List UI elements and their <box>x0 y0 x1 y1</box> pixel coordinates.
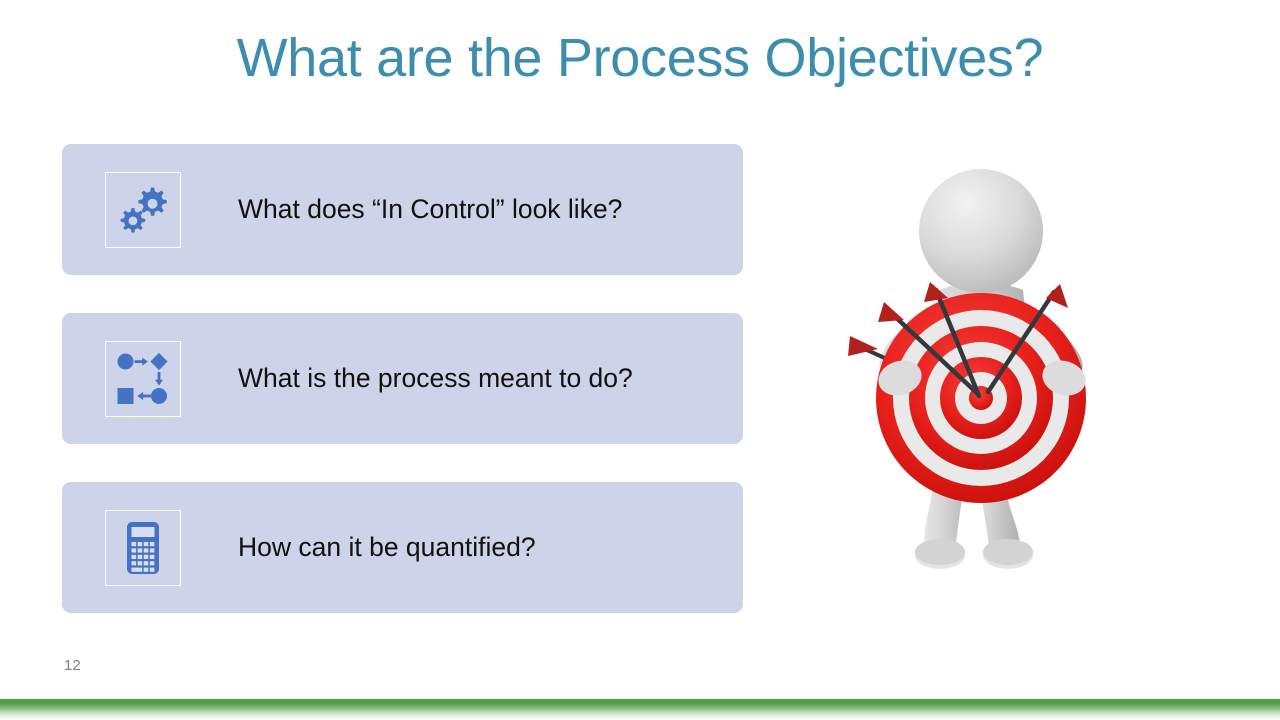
slide-number: 12 <box>64 657 81 674</box>
content-box-1-label: What does “In Control” look like? <box>238 144 622 275</box>
flowchart-icon <box>105 341 181 417</box>
content-box-2-label: What is the process meant to do? <box>238 313 633 444</box>
content-box-3[interactable]: How can it be quantified? <box>62 482 743 613</box>
content-box-3-label: How can it be quantified? <box>238 482 536 613</box>
gears-icon <box>105 172 181 248</box>
content-box-1[interactable]: What does “In Control” look like? <box>62 144 743 275</box>
figure-holding-bullseye-target-image <box>838 140 1124 600</box>
bottom-accent-bar <box>0 699 1280 720</box>
calculator-icon <box>105 510 181 586</box>
page-title: What are the Process Objectives? <box>64 22 1216 94</box>
slide-canvas: What are the Process Objectives? What do… <box>0 0 1280 720</box>
content-box-2[interactable]: What is the process meant to do? <box>62 313 743 444</box>
